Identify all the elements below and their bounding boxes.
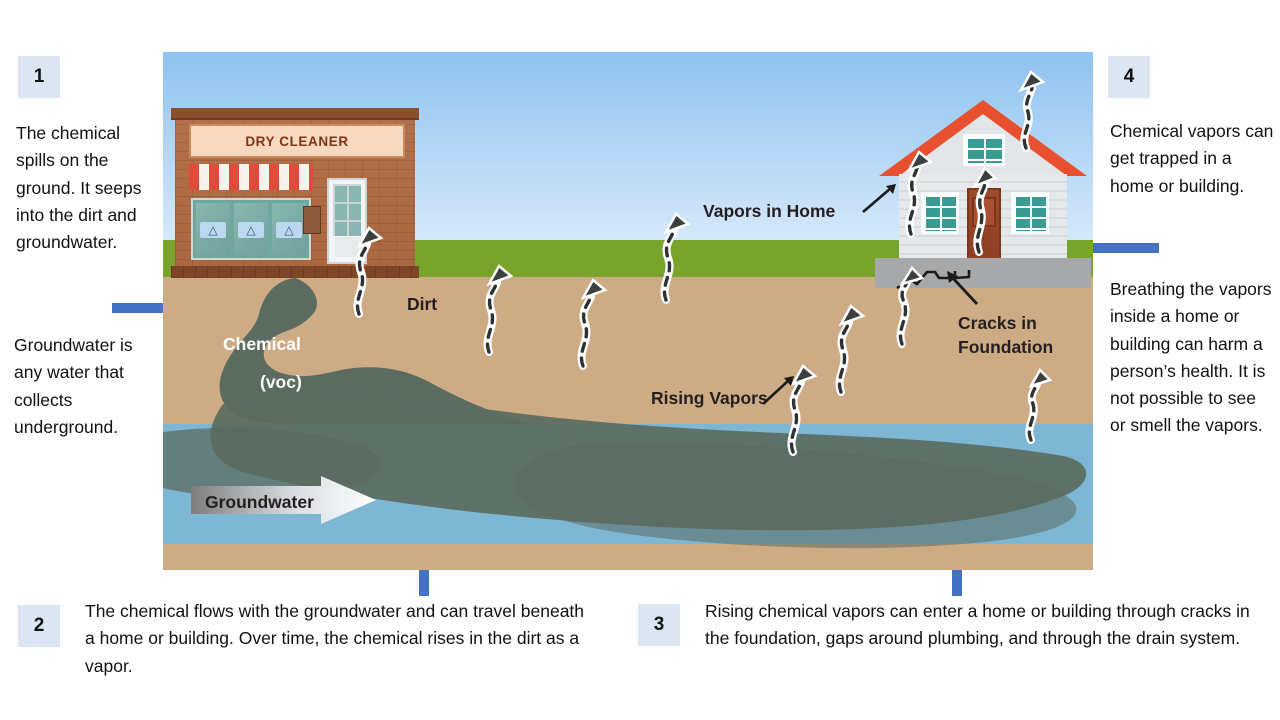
- label-groundwater: Groundwater: [205, 492, 314, 513]
- label-cracks-in-foundation: Cracks in Foundation: [958, 312, 1078, 359]
- step-1-text: The chemical spills on the ground. It se…: [16, 120, 158, 256]
- label-rising-vapors: Rising Vapors: [651, 388, 768, 409]
- vapor-arrow-icon: [791, 366, 815, 452]
- vapor-arrow-icon: [839, 306, 863, 392]
- label-vapors-in-home: Vapors in Home: [703, 201, 835, 222]
- vapor-arrow-icon-indoor: [975, 168, 995, 252]
- illustration-scene: DRY CLEANER △ △ △: [163, 52, 1093, 570]
- vapor-arrow-icon: [900, 268, 922, 344]
- groundwater-definition-text: Groundwater is any water that collects u…: [14, 332, 164, 441]
- leader-arrow-cracks: [947, 271, 977, 304]
- health-note-text: Breathing the vapors inside a home or bu…: [1110, 276, 1272, 440]
- vapor-arrow-icon: [664, 214, 688, 300]
- step-3-text: Rising chemical vapors can enter a home …: [705, 598, 1265, 653]
- step-badge-4: 4: [1108, 56, 1150, 98]
- diagram-root: 1 2 3 4 The chemical spills on the groun…: [0, 0, 1280, 720]
- vapor-arrow-icon-indoor: [909, 152, 931, 234]
- label-chemical: Chemical: [223, 334, 301, 355]
- label-dirt: Dirt: [407, 294, 437, 315]
- vapor-arrow-icon: [487, 266, 511, 352]
- label-chemical-voc: (voc): [260, 372, 302, 393]
- step-4-text: Chemical vapors can get trapped in a hom…: [1110, 118, 1275, 200]
- step-2-text: The chemical flows with the groundwater …: [85, 598, 585, 680]
- vapor-arrow-icon: [357, 228, 381, 314]
- leader-arrow-vapors-in-home: [863, 184, 896, 212]
- step-badge-3: 3: [638, 604, 680, 646]
- vapor-arrow-icon-indoor: [1021, 72, 1043, 148]
- step-badge-2: 2: [18, 605, 60, 647]
- vapor-arrow-icon: [581, 280, 605, 366]
- vapor-arrow-icon: [1029, 370, 1050, 440]
- step-badge-1: 1: [18, 56, 60, 98]
